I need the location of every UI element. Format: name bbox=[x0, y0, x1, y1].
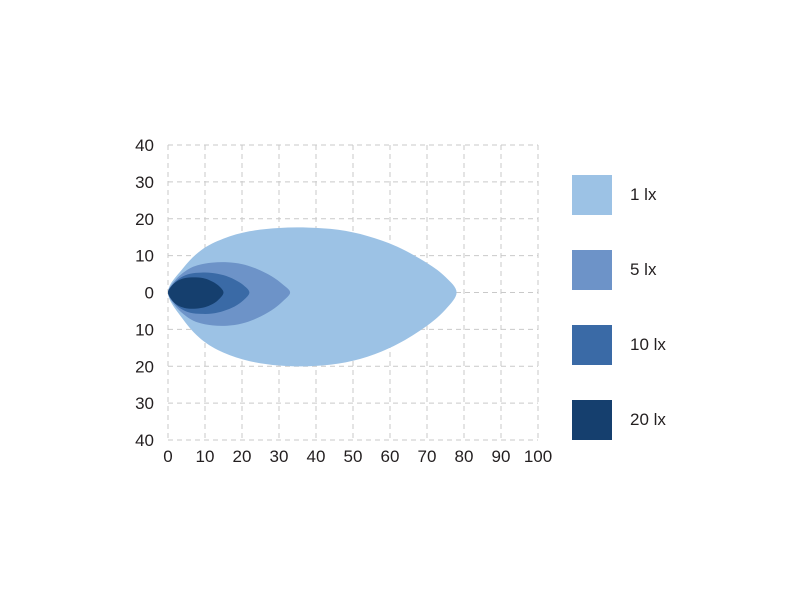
x-tick-label: 100 bbox=[524, 447, 552, 466]
x-tick-label: 30 bbox=[270, 447, 289, 466]
y-tick-label: 20 bbox=[135, 210, 154, 229]
y-tick-label: 20 bbox=[135, 357, 154, 376]
x-tick-label: 40 bbox=[307, 447, 326, 466]
legend-swatch bbox=[572, 400, 612, 440]
y-tick-label: 40 bbox=[135, 431, 154, 450]
y-tick-label: 10 bbox=[135, 247, 154, 266]
x-tick-label: 10 bbox=[196, 447, 215, 466]
legend-swatch bbox=[572, 250, 612, 290]
x-tick-label: 90 bbox=[492, 447, 511, 466]
isolux-plot: 0102030405060708090100 40302010010203040 bbox=[0, 0, 560, 600]
legend-item[interactable]: 20 lx bbox=[572, 382, 772, 457]
chart-container: 0102030405060708090100 40302010010203040 bbox=[0, 0, 560, 600]
x-axis-tick-labels: 0102030405060708090100 bbox=[163, 447, 552, 466]
isolux-areas bbox=[168, 227, 457, 366]
y-tick-label: 30 bbox=[135, 394, 154, 413]
x-tick-label: 60 bbox=[381, 447, 400, 466]
legend-item[interactable]: 1 lx bbox=[572, 157, 772, 232]
chart-page: 0102030405060708090100 40302010010203040… bbox=[0, 0, 800, 600]
legend-item[interactable]: 5 lx bbox=[572, 232, 772, 307]
x-tick-label: 0 bbox=[163, 447, 172, 466]
y-tick-label: 10 bbox=[135, 320, 154, 339]
x-tick-label: 50 bbox=[344, 447, 363, 466]
y-axis-tick-labels: 40302010010203040 bbox=[135, 136, 154, 450]
legend-label: 5 lx bbox=[630, 260, 656, 280]
y-tick-label: 0 bbox=[145, 284, 154, 303]
y-tick-label: 40 bbox=[135, 136, 154, 155]
chart-legend: 1 lx5 lx10 lx20 lx bbox=[572, 157, 772, 457]
legend-label: 10 lx bbox=[630, 335, 666, 355]
legend-swatch bbox=[572, 175, 612, 215]
legend-swatch bbox=[572, 325, 612, 365]
legend-label: 1 lx bbox=[630, 185, 656, 205]
x-tick-label: 20 bbox=[233, 447, 252, 466]
legend-item[interactable]: 10 lx bbox=[572, 307, 772, 382]
legend-label: 20 lx bbox=[630, 410, 666, 430]
x-tick-label: 70 bbox=[418, 447, 437, 466]
y-tick-label: 30 bbox=[135, 173, 154, 192]
x-tick-label: 80 bbox=[455, 447, 474, 466]
